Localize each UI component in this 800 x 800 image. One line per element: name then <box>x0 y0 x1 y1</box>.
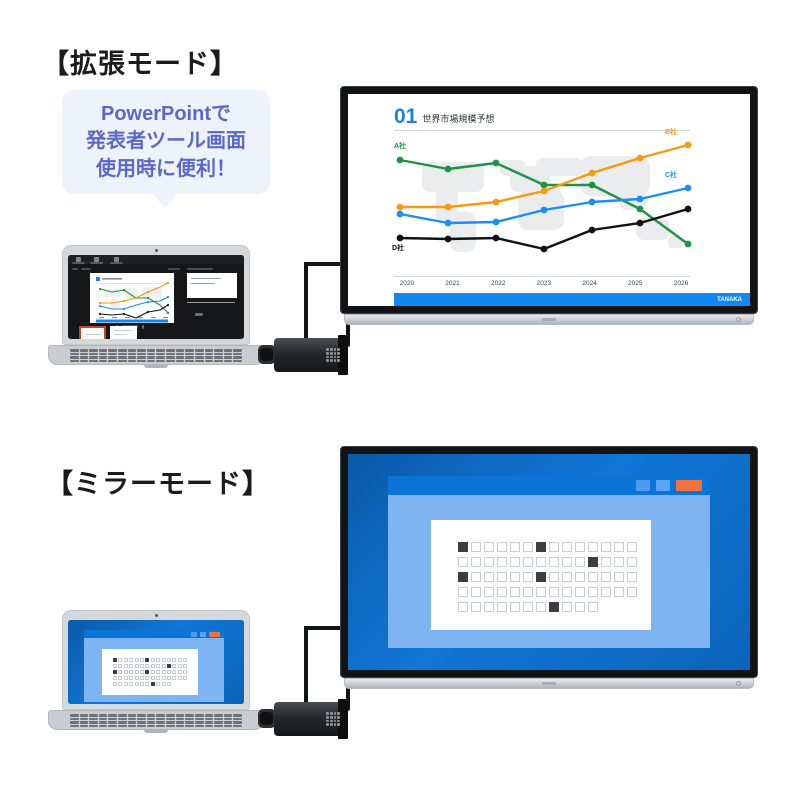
laptop-extended <box>48 245 264 370</box>
pv-note-caption <box>187 302 235 303</box>
monitor-power-led-mirror <box>736 681 741 686</box>
callout-line-1: PowerPointで <box>101 101 231 129</box>
laptop-desktop-background <box>68 620 244 704</box>
series-label-b: B社 <box>665 127 677 137</box>
laptop-maximize-button[interactable] <box>200 632 206 637</box>
pv-slide-thumbnail <box>90 273 174 323</box>
extended-mode-heading: 【拡張モード】 <box>42 42 238 81</box>
pv-tool-label-3 <box>110 262 123 264</box>
chart-axis-rule <box>394 276 690 277</box>
monitor-screen-mirror <box>348 454 750 670</box>
pv-thumbnail-1-line <box>86 334 102 335</box>
laptop-screen-mirror <box>68 620 244 704</box>
slide-title: 世界市場規模予想 <box>422 115 494 125</box>
presentation-slide: 01 世界市場規模予想 <box>348 94 750 306</box>
usb-c-adapter-extended <box>258 334 354 376</box>
laptop-document-cell-grid <box>113 658 187 686</box>
grid-row <box>113 664 187 668</box>
laptop-window-titlebar[interactable] <box>84 630 224 638</box>
pv-tool-label-2 <box>90 262 103 264</box>
laptop-trackpad-notch <box>144 365 168 368</box>
laptop-screen-extended <box>68 255 244 339</box>
grid-row <box>113 658 187 662</box>
monitor-power-led <box>736 317 741 322</box>
chart-x-axis: 2020 2021 2022 2023 2024 2025 2026 <box>384 280 704 287</box>
series-label-d: D社 <box>392 243 404 253</box>
x-tick-3: 2023 <box>521 280 567 287</box>
document-cell-grid <box>458 542 637 612</box>
x-tick-1: 2021 <box>430 280 476 287</box>
pv-note-line-1 <box>191 278 221 279</box>
pv-slide-counter <box>168 268 180 270</box>
pv-thumbnail-1[interactable] <box>79 326 106 339</box>
mirror-mode-section: 【ミラーモード】 <box>0 420 800 800</box>
pv-next-slide-button[interactable] <box>142 325 144 329</box>
extended-mode-callout: PowerPointで 発表者ツール画面 使用時に便利！ <box>62 90 270 194</box>
adapter-label-grill-mirror <box>326 712 340 726</box>
pv-notes-header <box>187 268 213 270</box>
grid-row <box>113 670 187 674</box>
pv-pen-tool[interactable] <box>195 313 203 316</box>
laptop-minimize-button[interactable] <box>191 632 197 637</box>
pv-toolbar <box>68 255 244 264</box>
usb-c-adapter-mirror <box>258 698 354 740</box>
laptop-mirror <box>48 610 264 735</box>
callout-tail <box>152 193 178 208</box>
slide-title-rule <box>394 130 690 131</box>
x-tick-2: 2022 <box>475 280 521 287</box>
monitor-stand-indicator-mirror <box>542 682 556 685</box>
pv-clock <box>81 268 91 270</box>
slide-brand: TANAKA <box>717 297 742 303</box>
line-chart: A社 B社 C社 D社 <box>384 136 704 272</box>
adapter-label-grill <box>326 348 340 362</box>
minimize-button[interactable] <box>636 480 650 491</box>
grid-row <box>458 587 637 597</box>
grid-row <box>458 542 637 552</box>
window-document-canvas[interactable] <box>431 520 651 630</box>
mirror-mode-heading: 【ミラーモード】 <box>46 462 270 501</box>
external-monitor-extended: 01 世界市場規模予想 <box>340 86 758 331</box>
powerpoint-presenter-view <box>68 255 244 339</box>
window-titlebar[interactable] <box>388 476 710 495</box>
laptop-keyboard[interactable] <box>70 349 242 362</box>
grid-row <box>458 572 637 582</box>
pv-thumbnail-2-line-1 <box>114 330 132 331</box>
monitor-stand-indicator <box>542 318 556 321</box>
laptop-close-button[interactable] <box>209 632 220 637</box>
usb-c-plug-inner <box>260 348 273 361</box>
usb-c-plug-inner-mirror <box>260 712 273 725</box>
x-tick-4: 2024 <box>567 280 613 287</box>
pv-timer <box>72 268 78 270</box>
pv-thumbnail-2[interactable] <box>110 326 137 339</box>
laptop-mirrored-window[interactable] <box>84 630 224 702</box>
monitor-screen-slide: 01 世界市場規模予想 <box>348 94 750 306</box>
laptop-camera-mirror <box>155 614 158 617</box>
laptop-trackpad-notch-mirror <box>144 730 168 733</box>
pv-note-line-2 <box>191 283 215 284</box>
laptop-camera <box>155 249 158 252</box>
x-tick-0: 2020 <box>384 280 430 287</box>
grid-row <box>113 676 187 680</box>
x-tick-5: 2025 <box>612 280 658 287</box>
series-label-a: A社 <box>394 141 406 151</box>
mirrored-window[interactable] <box>388 476 710 648</box>
callout-line-3: 使用時に便利！ <box>96 156 236 184</box>
series-label-c: C社 <box>665 170 677 180</box>
laptop-document-canvas[interactable] <box>102 649 198 695</box>
slide-footer: TANAKA <box>394 293 750 306</box>
slide-header: 01 世界市場規模予想 <box>394 106 494 127</box>
chart-plot <box>384 136 704 272</box>
pv-thumbnail-2-line-2 <box>114 334 127 335</box>
grid-row <box>113 682 187 686</box>
slide-number: 01 <box>394 106 417 127</box>
callout-line-2: 発表者ツール画面 <box>86 128 246 156</box>
pv-current-slide <box>90 273 174 323</box>
x-tick-6: 2026 <box>658 280 704 287</box>
external-monitor-mirror <box>340 446 758 696</box>
close-button[interactable] <box>676 480 702 491</box>
grid-row <box>458 557 637 567</box>
pv-tool-label-1 <box>72 262 85 264</box>
grid-row <box>458 602 637 612</box>
extended-mode-section: 【拡張モード】 PowerPointで 発表者ツール画面 使用時に便利！ 01 … <box>0 0 800 420</box>
pv-speaker-notes[interactable] <box>187 273 237 298</box>
maximize-button[interactable] <box>656 480 670 491</box>
laptop-keyboard-mirror[interactable] <box>70 714 242 727</box>
